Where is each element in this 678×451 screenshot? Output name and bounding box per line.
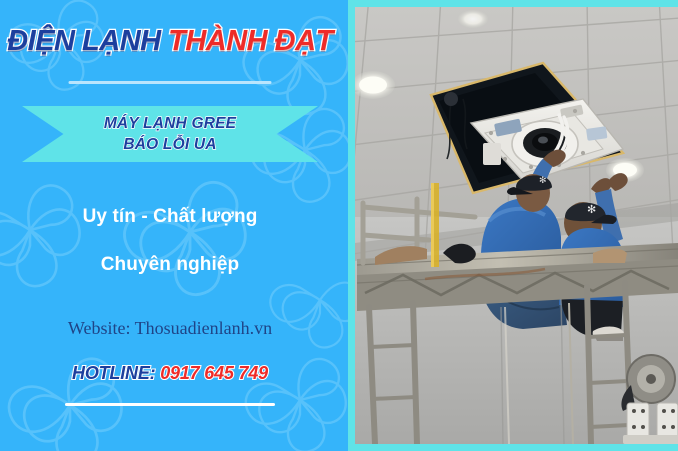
ribbon-line-2: BÁO LỖI UA — [123, 134, 216, 155]
service-ribbon: MÁY LẠNH GREE BÁO LỖI UA — [22, 106, 318, 162]
headline-part-dien-lanh: ĐIỆN LẠNH — [7, 25, 160, 57]
svg-text:✻: ✻ — [587, 203, 596, 216]
photo-frame: ✻ — [348, 0, 678, 451]
promotional-banner: ĐIỆN LẠNH THÀNH ĐẠT MÁY LẠNH GREE BÁO LỖ… — [0, 0, 678, 451]
website-text: Website: Thosuadienlanh.vn — [0, 318, 340, 339]
divider-bottom — [65, 403, 275, 406]
svg-text:✻: ✻ — [539, 176, 547, 186]
left-text-panel: ĐIỆN LẠNH THÀNH ĐẠT MÁY LẠNH GREE BÁO LỖ… — [0, 0, 340, 451]
hotline-row: HOTLINE: 0917 645 749 — [0, 363, 340, 384]
headline-part-thanh-dat: THÀNH ĐẠT — [168, 25, 333, 57]
slogan-professional: Chuyên nghiệp — [0, 254, 340, 276]
hotline-number: 0917 645 749 — [160, 363, 268, 383]
slogan-quality: Uy tín - Chất lượng — [0, 206, 340, 228]
hotline-label: HOTLINE: — [72, 363, 155, 383]
technician-photo: ✻ — [355, 7, 678, 444]
divider-top — [69, 81, 272, 84]
photo-illustration: ✻ — [355, 7, 678, 444]
ribbon-line-1: MÁY LẠNH GREE — [104, 113, 236, 134]
company-headline: ĐIỆN LẠNH THÀNH ĐẠT — [0, 24, 340, 58]
